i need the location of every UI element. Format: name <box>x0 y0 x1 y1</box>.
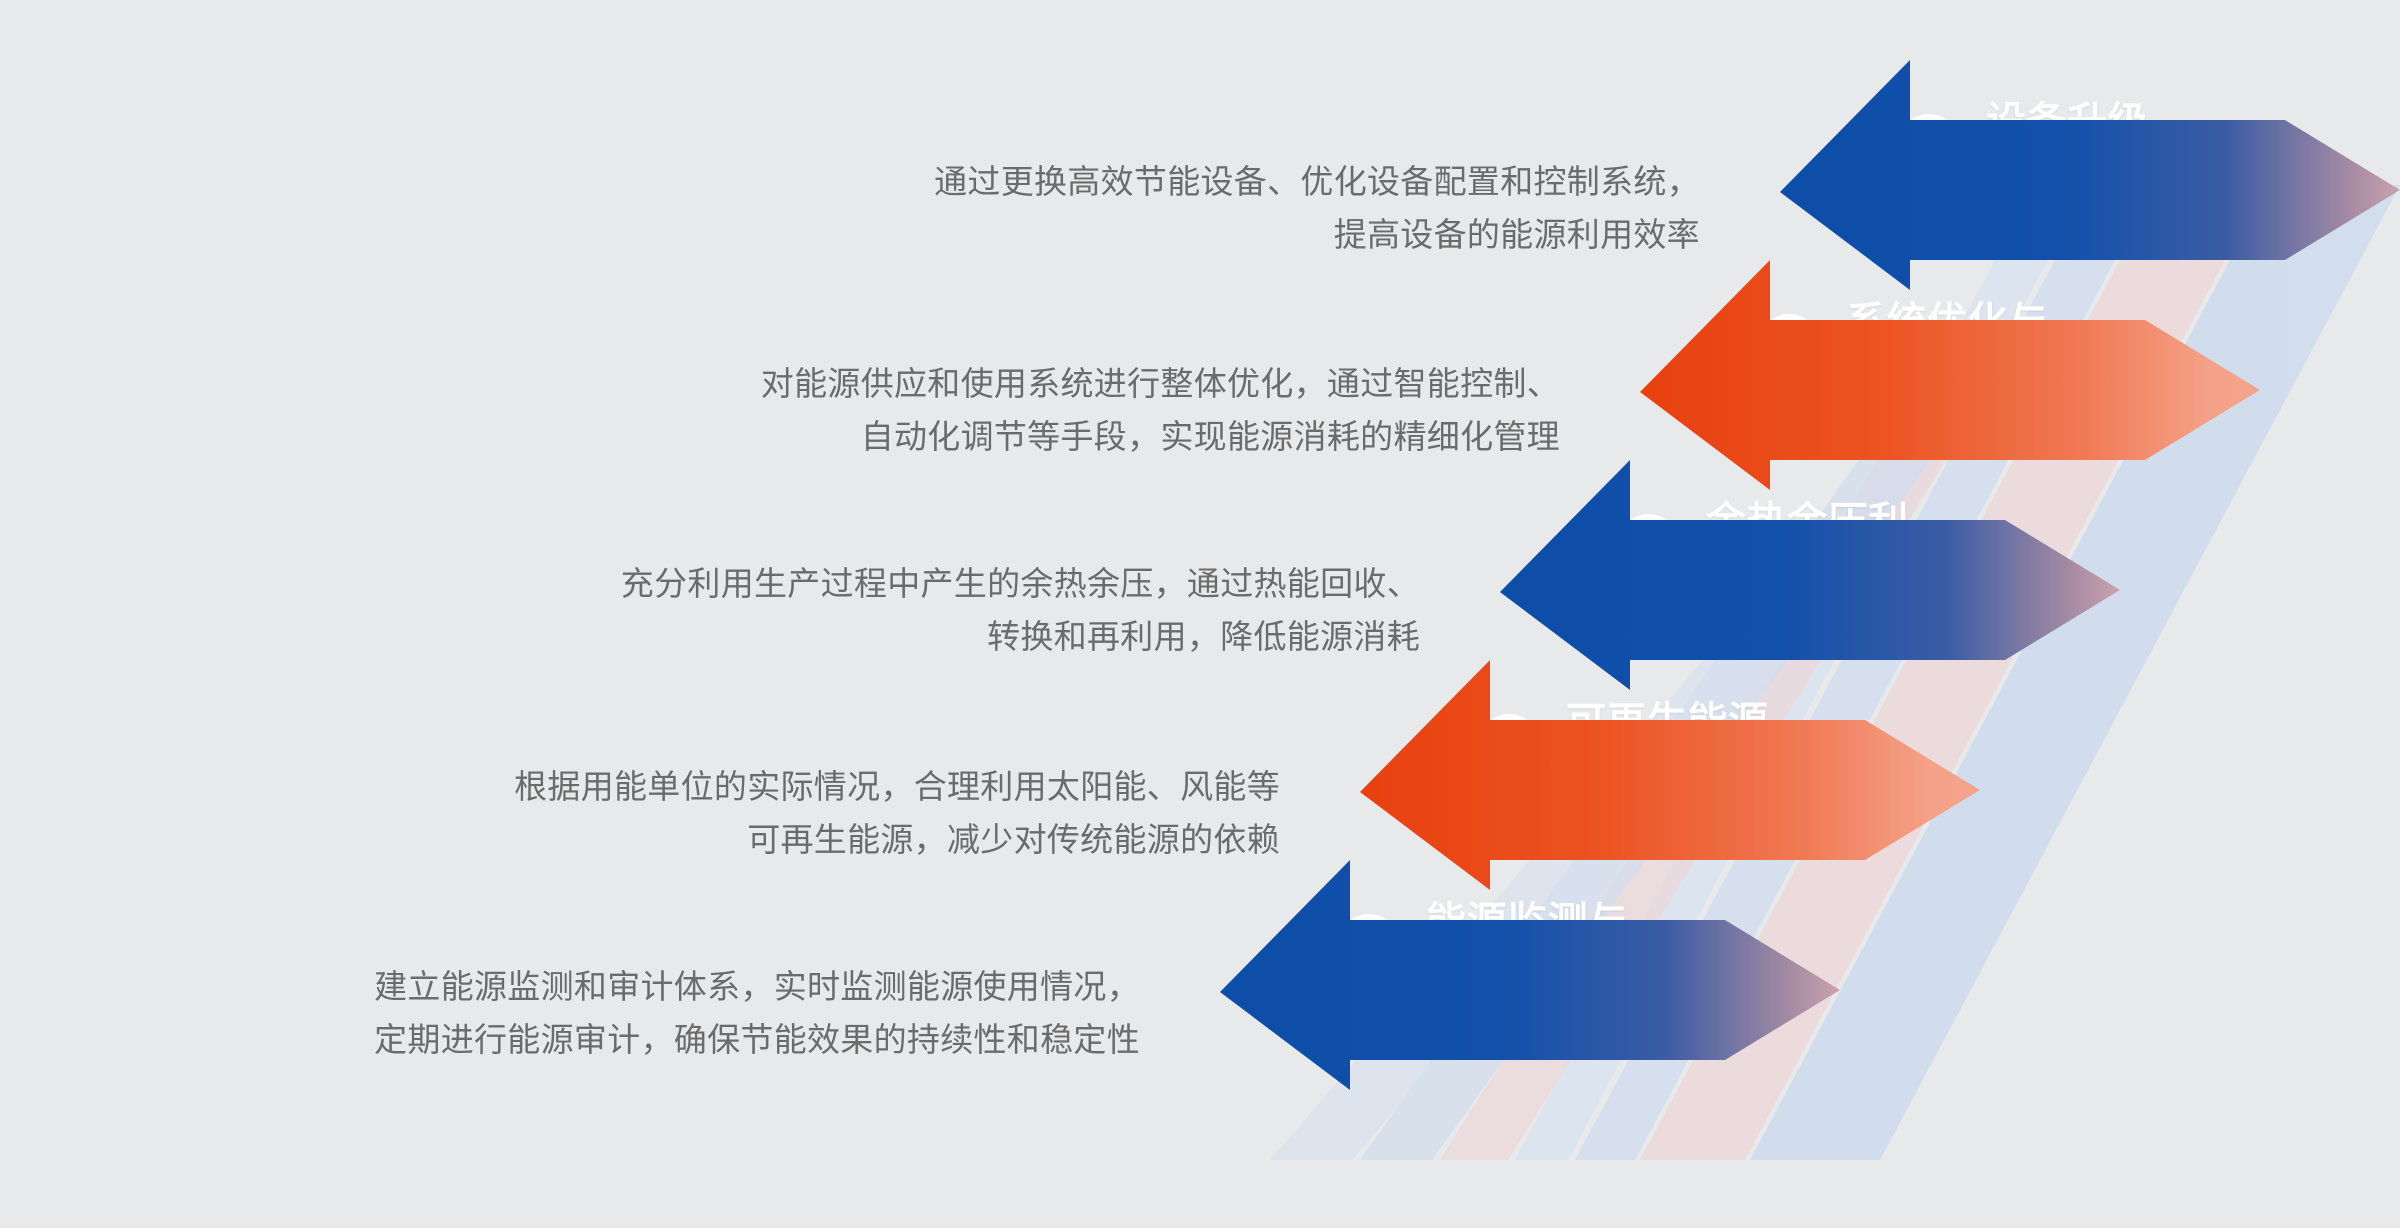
step-arrow-5[interactable] <box>1220 860 1840 1090</box>
infographic-canvas: 设备升级 与改造 系统优化与 控制 余热余压利 <box>0 0 2400 1228</box>
step-arrow-2[interactable] <box>1640 260 2260 490</box>
arrow-shape <box>1220 860 1840 1090</box>
step-3-description: 充分利用生产过程中产生的余热余压，通过热能回收、 转换和再利用，降低能源消耗 <box>300 557 1420 664</box>
step-4-description: 根据用能单位的实际情况，合理利用太阳能、风能等 可再生能源，减少对传统能源的依赖 <box>160 760 1280 867</box>
step-arrow-4[interactable] <box>1360 660 1980 890</box>
step-1-description: 通过更换高效节能设备、优化设备配置和控制系统， 提高设备的能源利用效率 <box>580 155 1700 262</box>
step-arrow-1[interactable] <box>1780 60 2400 290</box>
step-2-description: 对能源供应和使用系统进行整体优化，通过智能控制、 自动化调节等手段，实现能源消耗… <box>440 357 1560 464</box>
arrow-shape <box>1640 260 2260 490</box>
step-5-description: 建立能源监测和审计体系，实时监测能源使用情况， 定期进行能源审计，确保节能效果的… <box>20 960 1140 1067</box>
step-arrow-3[interactable] <box>1500 460 2120 690</box>
arrow-shape <box>1500 460 2120 690</box>
arrow-shape <box>1780 60 2400 290</box>
arrow-shape <box>1360 660 1980 890</box>
